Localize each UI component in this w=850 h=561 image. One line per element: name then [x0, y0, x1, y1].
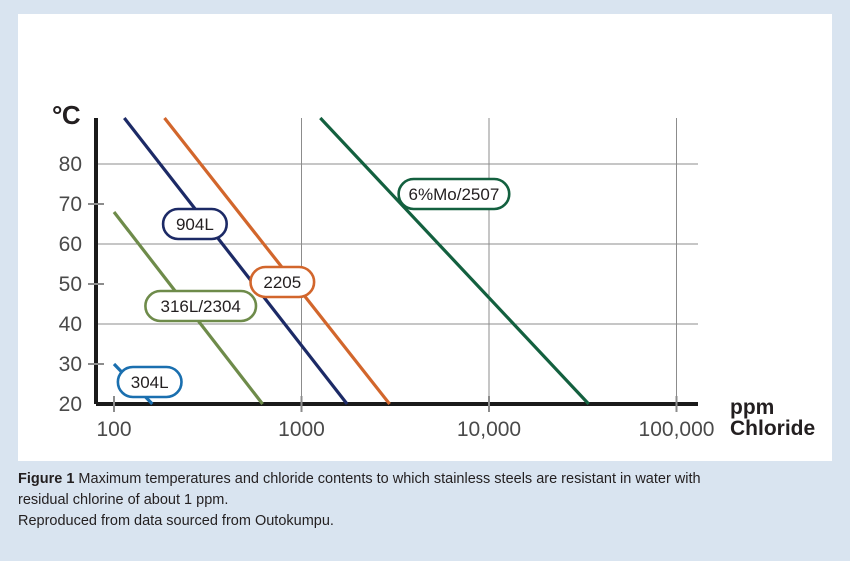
- x-axis-title: ppm Chloride: [730, 397, 840, 439]
- y-axis-tick-label: 80: [59, 153, 82, 176]
- caption-line-3: Reproduced from data sourced from Outoku…: [18, 511, 832, 532]
- x-axis-tick-label: 10,000: [457, 418, 521, 441]
- chart-panel: 304L316L/2304904L22056%Mo/2507 203040506…: [18, 14, 832, 461]
- series-line-2205: [165, 118, 390, 404]
- series-callout-6-mo-2507: 6%Mo/2507: [399, 179, 510, 209]
- series-line-904l: [124, 118, 347, 404]
- caption-figure-number: Figure 1: [18, 471, 74, 487]
- axes-group: [96, 118, 698, 404]
- series-lines-group: [114, 118, 589, 404]
- y-axis-tick-label: 70: [59, 193, 82, 216]
- x-axis-title-line2: Chloride: [730, 418, 840, 439]
- y-axis-tick-label: 60: [59, 233, 82, 256]
- callout-label: 2205: [263, 273, 301, 292]
- caption-line-2: residual chlorine of about 1 ppm.: [18, 490, 832, 511]
- callout-label: 316L/2304: [161, 297, 241, 316]
- series-callout-2205: 2205: [251, 267, 315, 297]
- x-axis-tick-label: 1000: [278, 418, 325, 441]
- y-axis-tick-label: 40: [59, 313, 82, 336]
- series-callouts-group: 304L316L/2304904L22056%Mo/2507: [118, 179, 509, 397]
- series-line-6-mo-2507: [320, 118, 588, 404]
- x-axis-tick-label: 100: [96, 418, 131, 441]
- figure-caption: Figure 1 Maximum temperatures and chlori…: [18, 469, 832, 547]
- series-callout-904l: 904L: [163, 209, 227, 239]
- figure-card: 304L316L/2304904L22056%Mo/2507 203040506…: [18, 14, 832, 547]
- series-callout-316l-2304: 316L/2304: [145, 291, 256, 321]
- caption-text-1: Maximum temperatures and chloride conten…: [74, 471, 700, 487]
- callout-label: 6%Mo/2507: [409, 185, 500, 204]
- y-axis-title: °C: [52, 100, 80, 131]
- gridlines-group: [96, 118, 698, 404]
- y-axis-tick-label: 50: [59, 273, 82, 296]
- chart-plot-area: 304L316L/2304904L22056%Mo/2507 203040506…: [18, 14, 832, 461]
- y-axis-tick-label: 30: [59, 353, 82, 376]
- x-axis-tick-label: 100,000: [639, 418, 715, 441]
- caption-line-1: Figure 1 Maximum temperatures and chlori…: [18, 469, 832, 490]
- x-axis-title-line1: ppm: [730, 396, 774, 419]
- callout-label: 304L: [131, 373, 169, 392]
- series-callout-304l: 304L: [118, 367, 182, 397]
- y-axis-tick-label: 20: [59, 393, 82, 416]
- callout-label: 904L: [176, 215, 214, 234]
